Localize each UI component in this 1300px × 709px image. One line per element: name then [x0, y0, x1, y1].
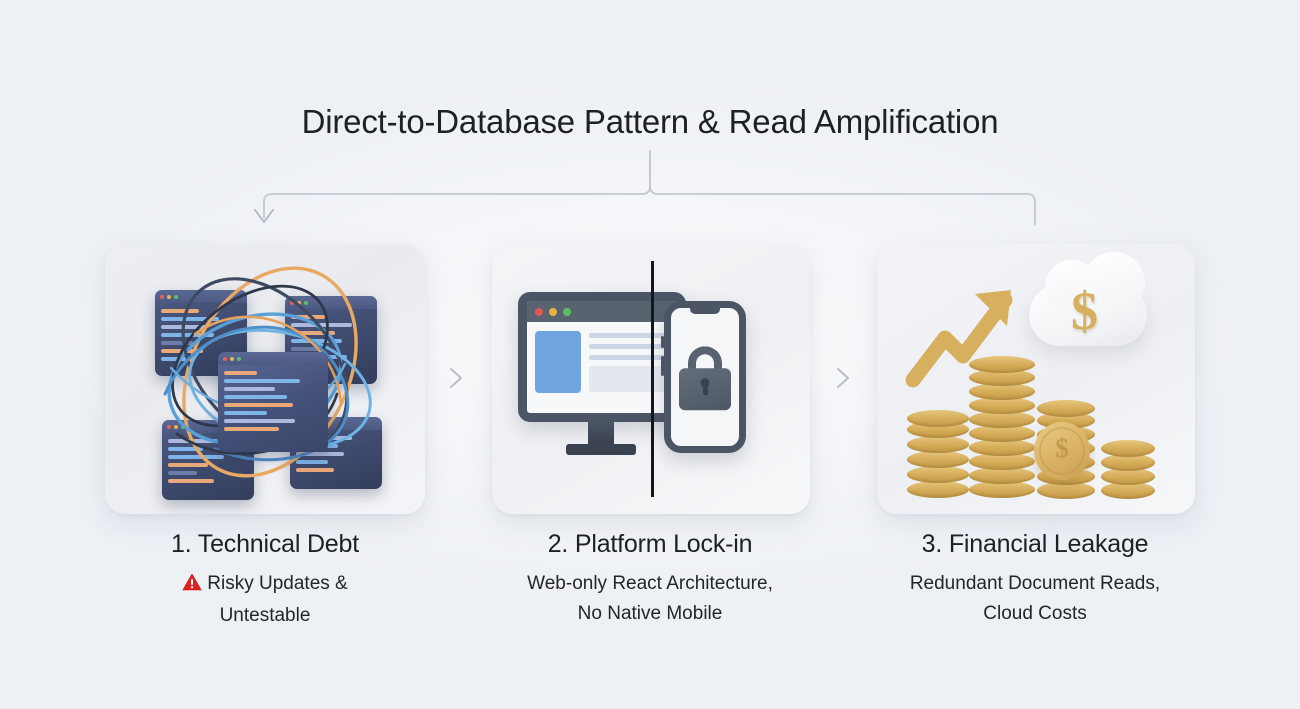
illustration-tangled-code-windows	[105, 244, 425, 514]
card-subtitle: Redundant Document Reads, Cloud Costs	[865, 569, 1205, 629]
split-divider-line	[651, 261, 654, 497]
close-dot-icon	[535, 308, 543, 316]
dollar-symbol: $	[1071, 280, 1098, 342]
chevron-right-icon	[440, 362, 472, 394]
card-subtitle: Risky Updates & Untestable	[95, 569, 435, 631]
card-subtitle-line-1: Redundant Document Reads,	[910, 573, 1160, 594]
caption-technical-debt: 1. Technical Debt Risky Updates & Untest…	[95, 530, 435, 631]
card-title: 2. Platform Lock-in	[480, 530, 820, 559]
caption-platform-lock-in: 2. Platform Lock-in Web-only React Archi…	[480, 530, 820, 629]
monitor-stand-foot	[566, 444, 636, 455]
card-technical-debt[interactable]	[105, 244, 425, 514]
card-subtitle-line-1: Risky Updates &	[207, 573, 347, 594]
card-subtitle-line-2: Cloud Costs	[983, 603, 1087, 624]
page-title: Direct-to-Database Pattern & Read Amplif…	[0, 103, 1300, 141]
code-lines	[218, 365, 328, 431]
card-subtitle-line-2: Untestable	[220, 605, 311, 626]
caption-financial-leakage: 3. Financial Leakage Redundant Document …	[865, 530, 1205, 629]
padlock-icon	[679, 346, 731, 410]
bracket-connector	[0, 150, 1300, 240]
minimize-dot-icon	[549, 308, 557, 316]
maximize-dot-icon	[563, 308, 571, 316]
coin-stack	[907, 414, 969, 498]
maximize-dot-icon	[237, 357, 241, 361]
mobile-phone-icon	[664, 301, 746, 453]
card-financial-leakage[interactable]: $	[877, 244, 1195, 514]
code-window	[218, 352, 328, 452]
browser-content	[527, 322, 677, 407]
arrow-down-icon	[255, 210, 273, 222]
content-lines	[589, 331, 669, 398]
card-subtitle: Web-only React Architecture, No Native M…	[480, 569, 820, 629]
card-platform-lock-in[interactable]	[492, 244, 810, 514]
padlock-keyhole	[701, 378, 710, 387]
phone-button	[661, 336, 664, 348]
padlock-shackle	[688, 346, 722, 370]
minimize-dot-icon	[230, 357, 234, 361]
card-subtitle-line-2: No Native Mobile	[578, 603, 723, 624]
chevron-right-icon	[827, 362, 859, 394]
card-title: 3. Financial Leakage	[865, 530, 1205, 559]
coin-stack	[1101, 438, 1155, 500]
illustration-coins-arrow-cloud: $	[877, 244, 1195, 514]
phone-button	[661, 356, 664, 376]
cards-row: $	[105, 244, 1195, 514]
coin-stack	[969, 360, 1035, 498]
monitor-stand-neck	[588, 422, 614, 444]
close-dot-icon	[223, 357, 227, 361]
infographic-stage: Direct-to-Database Pattern & Read Amplif…	[0, 0, 1300, 709]
card-title: 1. Technical Debt	[95, 530, 435, 559]
padlock-body	[679, 368, 731, 410]
illustration-monitor-and-phone	[492, 244, 810, 514]
warning-triangle-icon	[182, 571, 202, 601]
window-titlebar	[218, 352, 328, 365]
content-block	[535, 331, 581, 393]
card-subtitle-line-1: Web-only React Architecture,	[527, 573, 773, 594]
browser-titlebar	[527, 301, 677, 322]
phone-notch	[690, 308, 720, 314]
standing-coin: $	[1034, 422, 1090, 480]
